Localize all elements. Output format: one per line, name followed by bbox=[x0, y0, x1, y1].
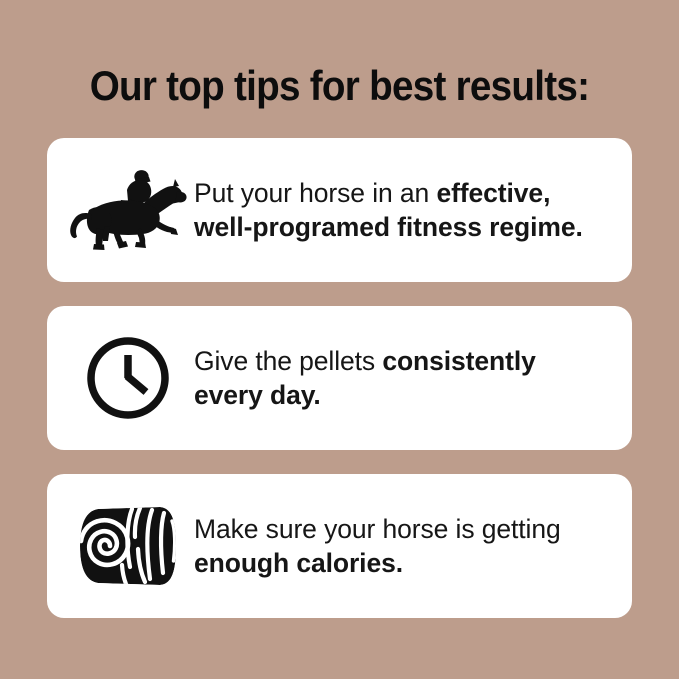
clock-icon bbox=[61, 328, 194, 428]
tip-text-bold: enough calories. bbox=[194, 548, 403, 578]
tip-text-normal: Give the pellets bbox=[194, 346, 382, 376]
hay-bale-icon bbox=[61, 496, 194, 596]
tips-infographic: Our top tips for best results: bbox=[0, 0, 679, 679]
tip-text: Put your horse in an effective, well-pro… bbox=[194, 176, 632, 244]
tips-list: Put your horse in an effective, well-pro… bbox=[47, 138, 632, 618]
tip-text: Make sure your horse is getting enough c… bbox=[194, 512, 632, 580]
horse-rider-icon bbox=[61, 160, 194, 260]
tip-card-horse-fitness: Put your horse in an effective, well-pro… bbox=[47, 138, 632, 282]
tip-text-normal: Put your horse in an bbox=[194, 178, 436, 208]
tip-text: Give the pellets consistently every day. bbox=[194, 344, 632, 412]
tip-text-normal: Make sure your horse is getting bbox=[194, 514, 561, 544]
tip-card-consistency: Give the pellets consistently every day. bbox=[47, 306, 632, 450]
page-title: Our top tips for best results: bbox=[27, 61, 652, 111]
tip-card-calories: Make sure your horse is getting enough c… bbox=[47, 474, 632, 618]
